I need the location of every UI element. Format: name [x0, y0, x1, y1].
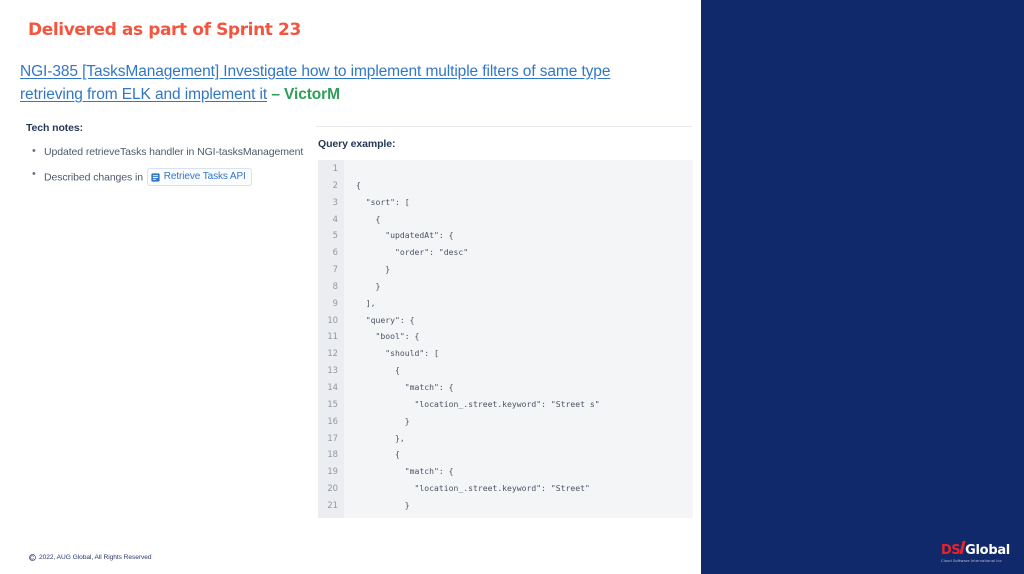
- code-line-text: "sort": [: [344, 194, 693, 211]
- company-logo: DS Global Cloud Software International I…: [941, 538, 1019, 566]
- code-line: 11 "bool": {: [318, 328, 693, 345]
- note-text: Updated retrieveTasks handler in NGI-tas…: [44, 146, 303, 158]
- chip-label: Retrieve Tasks API: [164, 170, 246, 184]
- logo-tagline: Cloud Software International Inc: [941, 559, 1002, 563]
- code-line-number: 8: [318, 278, 344, 295]
- slide-title: Delivered as part of Sprint 23: [28, 20, 301, 40]
- code-line: 17 },: [318, 430, 693, 447]
- code-line-text: }: [344, 413, 693, 430]
- code-line-text: "updatedAt": {: [344, 227, 693, 244]
- code-line-number: 7: [318, 261, 344, 278]
- code-line-text: {: [344, 177, 693, 194]
- code-line-number: 10: [318, 312, 344, 329]
- code-line-number: 20: [318, 480, 344, 497]
- code-line-text: "match": {: [344, 379, 693, 396]
- code-block[interactable]: 12{3 "sort": [4 {5 "updatedAt": {6 "orde…: [318, 160, 693, 518]
- code-line-number: 15: [318, 396, 344, 413]
- code-line-number: 13: [318, 362, 344, 379]
- footer-copyright: 2022, AUG Global, All Rights Reserved: [29, 554, 152, 561]
- code-line-text: },: [344, 430, 693, 447]
- code-line-number: 2: [318, 177, 344, 194]
- code-line-number: 5: [318, 227, 344, 244]
- code-line: 21 }: [318, 497, 693, 514]
- list-item: Described changes in Retrieve Tasks API: [26, 168, 311, 186]
- code-line-number: 18: [318, 446, 344, 463]
- code-line-text: }: [344, 497, 693, 514]
- code-line-number: 4: [318, 211, 344, 228]
- code-line-text: "location_.street.keyword": "Street": [344, 480, 693, 497]
- code-line: 9 ],: [318, 295, 693, 312]
- code-line-text: }: [344, 278, 693, 295]
- logo-brand-prefix: DS: [941, 544, 960, 557]
- tech-notes-list: Updated retrieveTasks handler in NGI-tas…: [26, 145, 311, 186]
- code-line-number: 16: [318, 413, 344, 430]
- code-line-number: 21: [318, 497, 344, 514]
- code-line-text: [344, 160, 693, 177]
- list-item: Updated retrieveTasks handler in NGI-tas…: [26, 145, 311, 159]
- code-line: 5 "updatedAt": {: [318, 227, 693, 244]
- code-line-number: 11: [318, 328, 344, 345]
- content-divider: [316, 126, 692, 127]
- code-line-text: {: [344, 362, 693, 379]
- logo-brand-suffix: Global: [965, 544, 1010, 557]
- code-line-text: "query": {: [344, 312, 693, 329]
- code-line: 2{: [318, 177, 693, 194]
- code-line: 18 {: [318, 446, 693, 463]
- code-line-text: "location_.street.keyword": "Street s": [344, 396, 693, 413]
- code-line: 15 "location_.street.keyword": "Street s…: [318, 396, 693, 413]
- copyright-text: 2022, AUG Global, All Rights Reserved: [39, 554, 152, 561]
- code-line-text: "order": "desc": [344, 244, 693, 261]
- ticket-assignee: – VictorM: [271, 86, 340, 103]
- code-line-number: 12: [318, 345, 344, 362]
- code-line-text: {: [344, 211, 693, 228]
- code-line-text: }: [344, 261, 693, 278]
- code-line-text: "match": {: [344, 463, 693, 480]
- code-line-number: 9: [318, 295, 344, 312]
- retrieve-tasks-api-link-chip[interactable]: Retrieve Tasks API: [147, 168, 252, 186]
- code-line: 4 {: [318, 211, 693, 228]
- code-line-text: {: [344, 446, 693, 463]
- code-line-number: 6: [318, 244, 344, 261]
- ticket-heading: NGI-385 [TasksManagement] Investigate ho…: [20, 60, 660, 106]
- code-line: 19 "match": {: [318, 463, 693, 480]
- query-example-section: Query example: 12{3 "sort": [4 {5 "updat…: [318, 138, 693, 518]
- code-line-number: 19: [318, 463, 344, 480]
- code-line: 1: [318, 160, 693, 177]
- code-line-number: 1: [318, 160, 344, 177]
- code-line: 10 "query": {: [318, 312, 693, 329]
- code-line: 3 "sort": [: [318, 194, 693, 211]
- copyright-icon: [29, 554, 36, 561]
- code-line: 16 }: [318, 413, 693, 430]
- code-line-text: "bool": {: [344, 328, 693, 345]
- tech-notes-section: Tech notes: Updated retrieveTasks handle…: [26, 122, 311, 195]
- code-line: 7 }: [318, 261, 693, 278]
- code-lines-container: 12{3 "sort": [4 {5 "updatedAt": {6 "orde…: [318, 160, 693, 514]
- code-line: 8 }: [318, 278, 693, 295]
- slide-canvas: DS Global Cloud Software International I…: [0, 0, 1024, 574]
- query-example-label: Query example:: [318, 138, 693, 150]
- logo-wordmark: DS Global: [941, 541, 1010, 557]
- code-line-text: ],: [344, 295, 693, 312]
- tech-notes-label: Tech notes:: [26, 122, 311, 134]
- document-list-icon: [151, 173, 160, 182]
- decorative-navy-panel: [701, 0, 1024, 574]
- code-line-number: 17: [318, 430, 344, 447]
- code-line: 13 {: [318, 362, 693, 379]
- code-line: 12 "should": [: [318, 345, 693, 362]
- code-line: 14 "match": {: [318, 379, 693, 396]
- code-line: 20 "location_.street.keyword": "Street": [318, 480, 693, 497]
- code-line-text: "should": [: [344, 345, 693, 362]
- note-text: Described changes in: [44, 172, 146, 184]
- code-line-number: 14: [318, 379, 344, 396]
- code-line-number: 3: [318, 194, 344, 211]
- code-line: 6 "order": "desc": [318, 244, 693, 261]
